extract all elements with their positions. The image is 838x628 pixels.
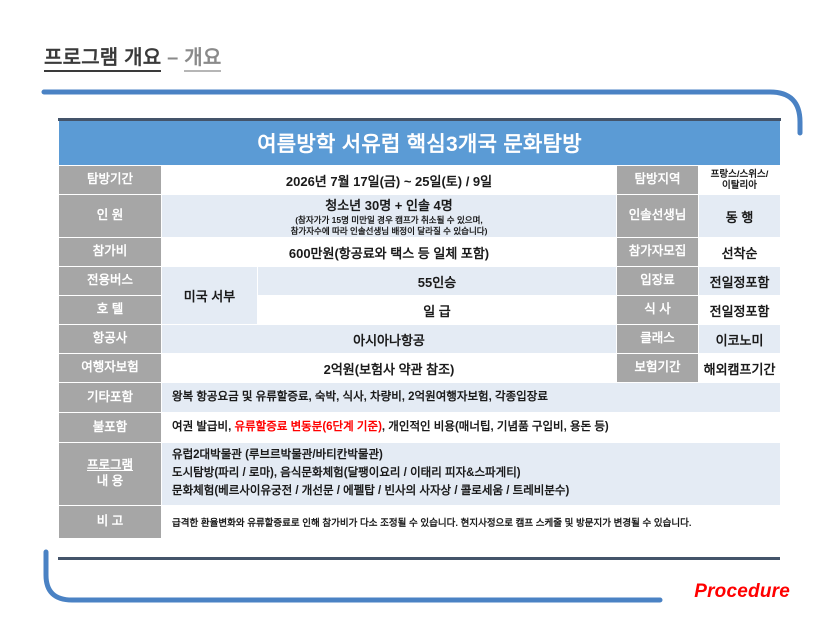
page-title: 프로그램 개요 – 개요	[44, 41, 221, 70]
row-label-class: 클래스	[617, 325, 699, 354]
row-value-program-content: 유럽2대박물관 (루브르박물관/바티칸박물관) 도시탐방(파리 / 로마), 음…	[162, 443, 781, 506]
row-value-headcount: 청소년 30명 + 인솔 4명 (참자가가 15명 미만일 경우 캠프가 취소될…	[162, 195, 617, 238]
table-row: 비 고 급격한 환율변화와 유류할증료로 인해 참가비가 다소 조정될 수 있습…	[59, 506, 781, 539]
row-label-remarks: 비 고	[59, 506, 162, 539]
table-row: 기타포함 왕복 항공요금 및 유류할증료, 숙박, 식사, 차량비, 2억원여행…	[59, 383, 781, 413]
table-title-row: 여름방학 서유럽 핵심3개국 문화탐방	[59, 120, 781, 166]
program-line-1: 유럽2대박물관 (루브르박물관/바티칸박물관)	[172, 449, 383, 461]
row-value-recruit: 선착순	[699, 238, 781, 267]
row-label-airline: 항공사	[59, 325, 162, 354]
row-label-meals: 식 사	[617, 296, 699, 325]
program-overview-table: 여름방학 서유럽 핵심3개국 문화탐방 탐방기간 2026년 7월 17일(금)…	[58, 118, 780, 539]
row-label-teacher: 인솔선생님	[617, 195, 699, 238]
row-value-included: 왕복 항공요금 및 유류할증료, 숙박, 식사, 차량비, 2억원여행자보험, …	[162, 383, 781, 413]
row-value-meals: 전일정포함	[699, 296, 781, 325]
footer-rule	[58, 557, 780, 560]
row-label-program-content: 프로그램내 용	[59, 443, 162, 506]
row-label-region: 탐방지역	[617, 166, 699, 195]
row-label-insurance: 여행자보험	[59, 354, 162, 383]
row-value-insurance: 2억원(보험사 약관 참조)	[162, 354, 617, 383]
row-label-admission: 입장료	[617, 267, 699, 296]
row-label-bus: 전용버스	[59, 267, 162, 296]
table-row: 프로그램내 용 유럽2대박물관 (루브르박물관/바티칸박물관) 도시탐방(파리 …	[59, 443, 781, 506]
table-row: 탐방기간 2026년 7월 17일(금) ~ 25일(토) / 9일 탐방지역 …	[59, 166, 781, 195]
slide-canvas: 프로그램 개요 – 개요 여름방학 서유럽 핵심3개국 문화탐방	[0, 0, 838, 628]
table-row: 불포함 여권 발급비, 유류할증료 변동분(6단계 기준), 개인적인 비용(매…	[59, 413, 781, 443]
page-title-sub: 개요	[184, 47, 221, 72]
row-value-admission: 전일정포함	[699, 267, 781, 296]
row-label-included: 기타포함	[59, 383, 162, 413]
headcount-note: (참자가가 15명 미만일 경우 캠프가 취소될 수 있으며,참가자수에 따라 …	[162, 215, 616, 236]
table-row: 전용버스 미국 서부 55인승 입장료 전일정포함	[59, 267, 781, 296]
row-label-recruit: 참가자모집	[617, 238, 699, 267]
row-value-excluded: 여권 발급비, 유류할증료 변동분(6단계 기준), 개인적인 비용(매너팁, …	[162, 413, 781, 443]
table-row: 여행자보험 2억원(보험사 약관 참조) 보험기간 해외캠프기간	[59, 354, 781, 383]
row-label-insurance-period: 보험기간	[617, 354, 699, 383]
excluded-text-post: , 개인적인 비용(매너팁, 기념품 구입비, 용돈 등)	[382, 421, 609, 433]
row-value-region: 프랑스/스위스/이탈리아	[699, 166, 781, 195]
row-label-excluded: 불포함	[59, 413, 162, 443]
table-row: 인 원 청소년 30명 + 인솔 4명 (참자가가 15명 미만일 경우 캠프가…	[59, 195, 781, 238]
excluded-text-pre: 여권 발급비,	[172, 421, 235, 433]
row-label-fee: 참가비	[59, 238, 162, 267]
row-label-period: 탐방기간	[59, 166, 162, 195]
row-value-airline: 아시아나항공	[162, 325, 617, 354]
program-line-3: 문화체험(베르사이유궁전 / 개선문 / 에펠탑 / 빈사의 사자상 / 콜로세…	[172, 485, 569, 497]
procedure-label: Procedure	[694, 581, 790, 603]
row-value-destination: 미국 서부	[162, 267, 258, 325]
row-label-hotel: 호 텔	[59, 296, 162, 325]
row-value-fee: 600만원(항공료와 택스 등 일체 포함)	[162, 238, 617, 267]
headcount-main: 청소년 30명 + 인솔 4명	[162, 195, 616, 214]
row-value-hotel: 일 급	[258, 296, 617, 325]
row-value-teacher: 동 행	[699, 195, 781, 238]
table-row: 항공사 아시아나항공 클래스 이코노미	[59, 325, 781, 354]
table-row: 참가비 600만원(항공료와 택스 등 일체 포함) 참가자모집 선착순	[59, 238, 781, 267]
row-value-insurance-period: 해외캠프기간	[699, 354, 781, 383]
row-value-bus: 55인승	[258, 267, 617, 296]
row-value-remarks: 급격한 환율변화와 유류할증료로 인해 참가비가 다소 조정될 수 있습니다. …	[162, 506, 781, 539]
table-title: 여름방학 서유럽 핵심3개국 문화탐방	[59, 120, 781, 166]
row-value-class: 이코노미	[699, 325, 781, 354]
row-label-headcount: 인 원	[59, 195, 162, 238]
row-value-period: 2026년 7월 17일(금) ~ 25일(토) / 9일	[162, 166, 617, 195]
program-line-2: 도시탐방(파리 / 로마), 음식문화체험(달팽이요리 / 이태리 피자&스파게…	[172, 467, 521, 479]
page-title-separator: –	[167, 47, 178, 69]
page-title-main: 프로그램 개요	[44, 47, 161, 72]
excluded-text-highlight: 유류할증료 변동분(6단계 기준)	[235, 421, 382, 433]
